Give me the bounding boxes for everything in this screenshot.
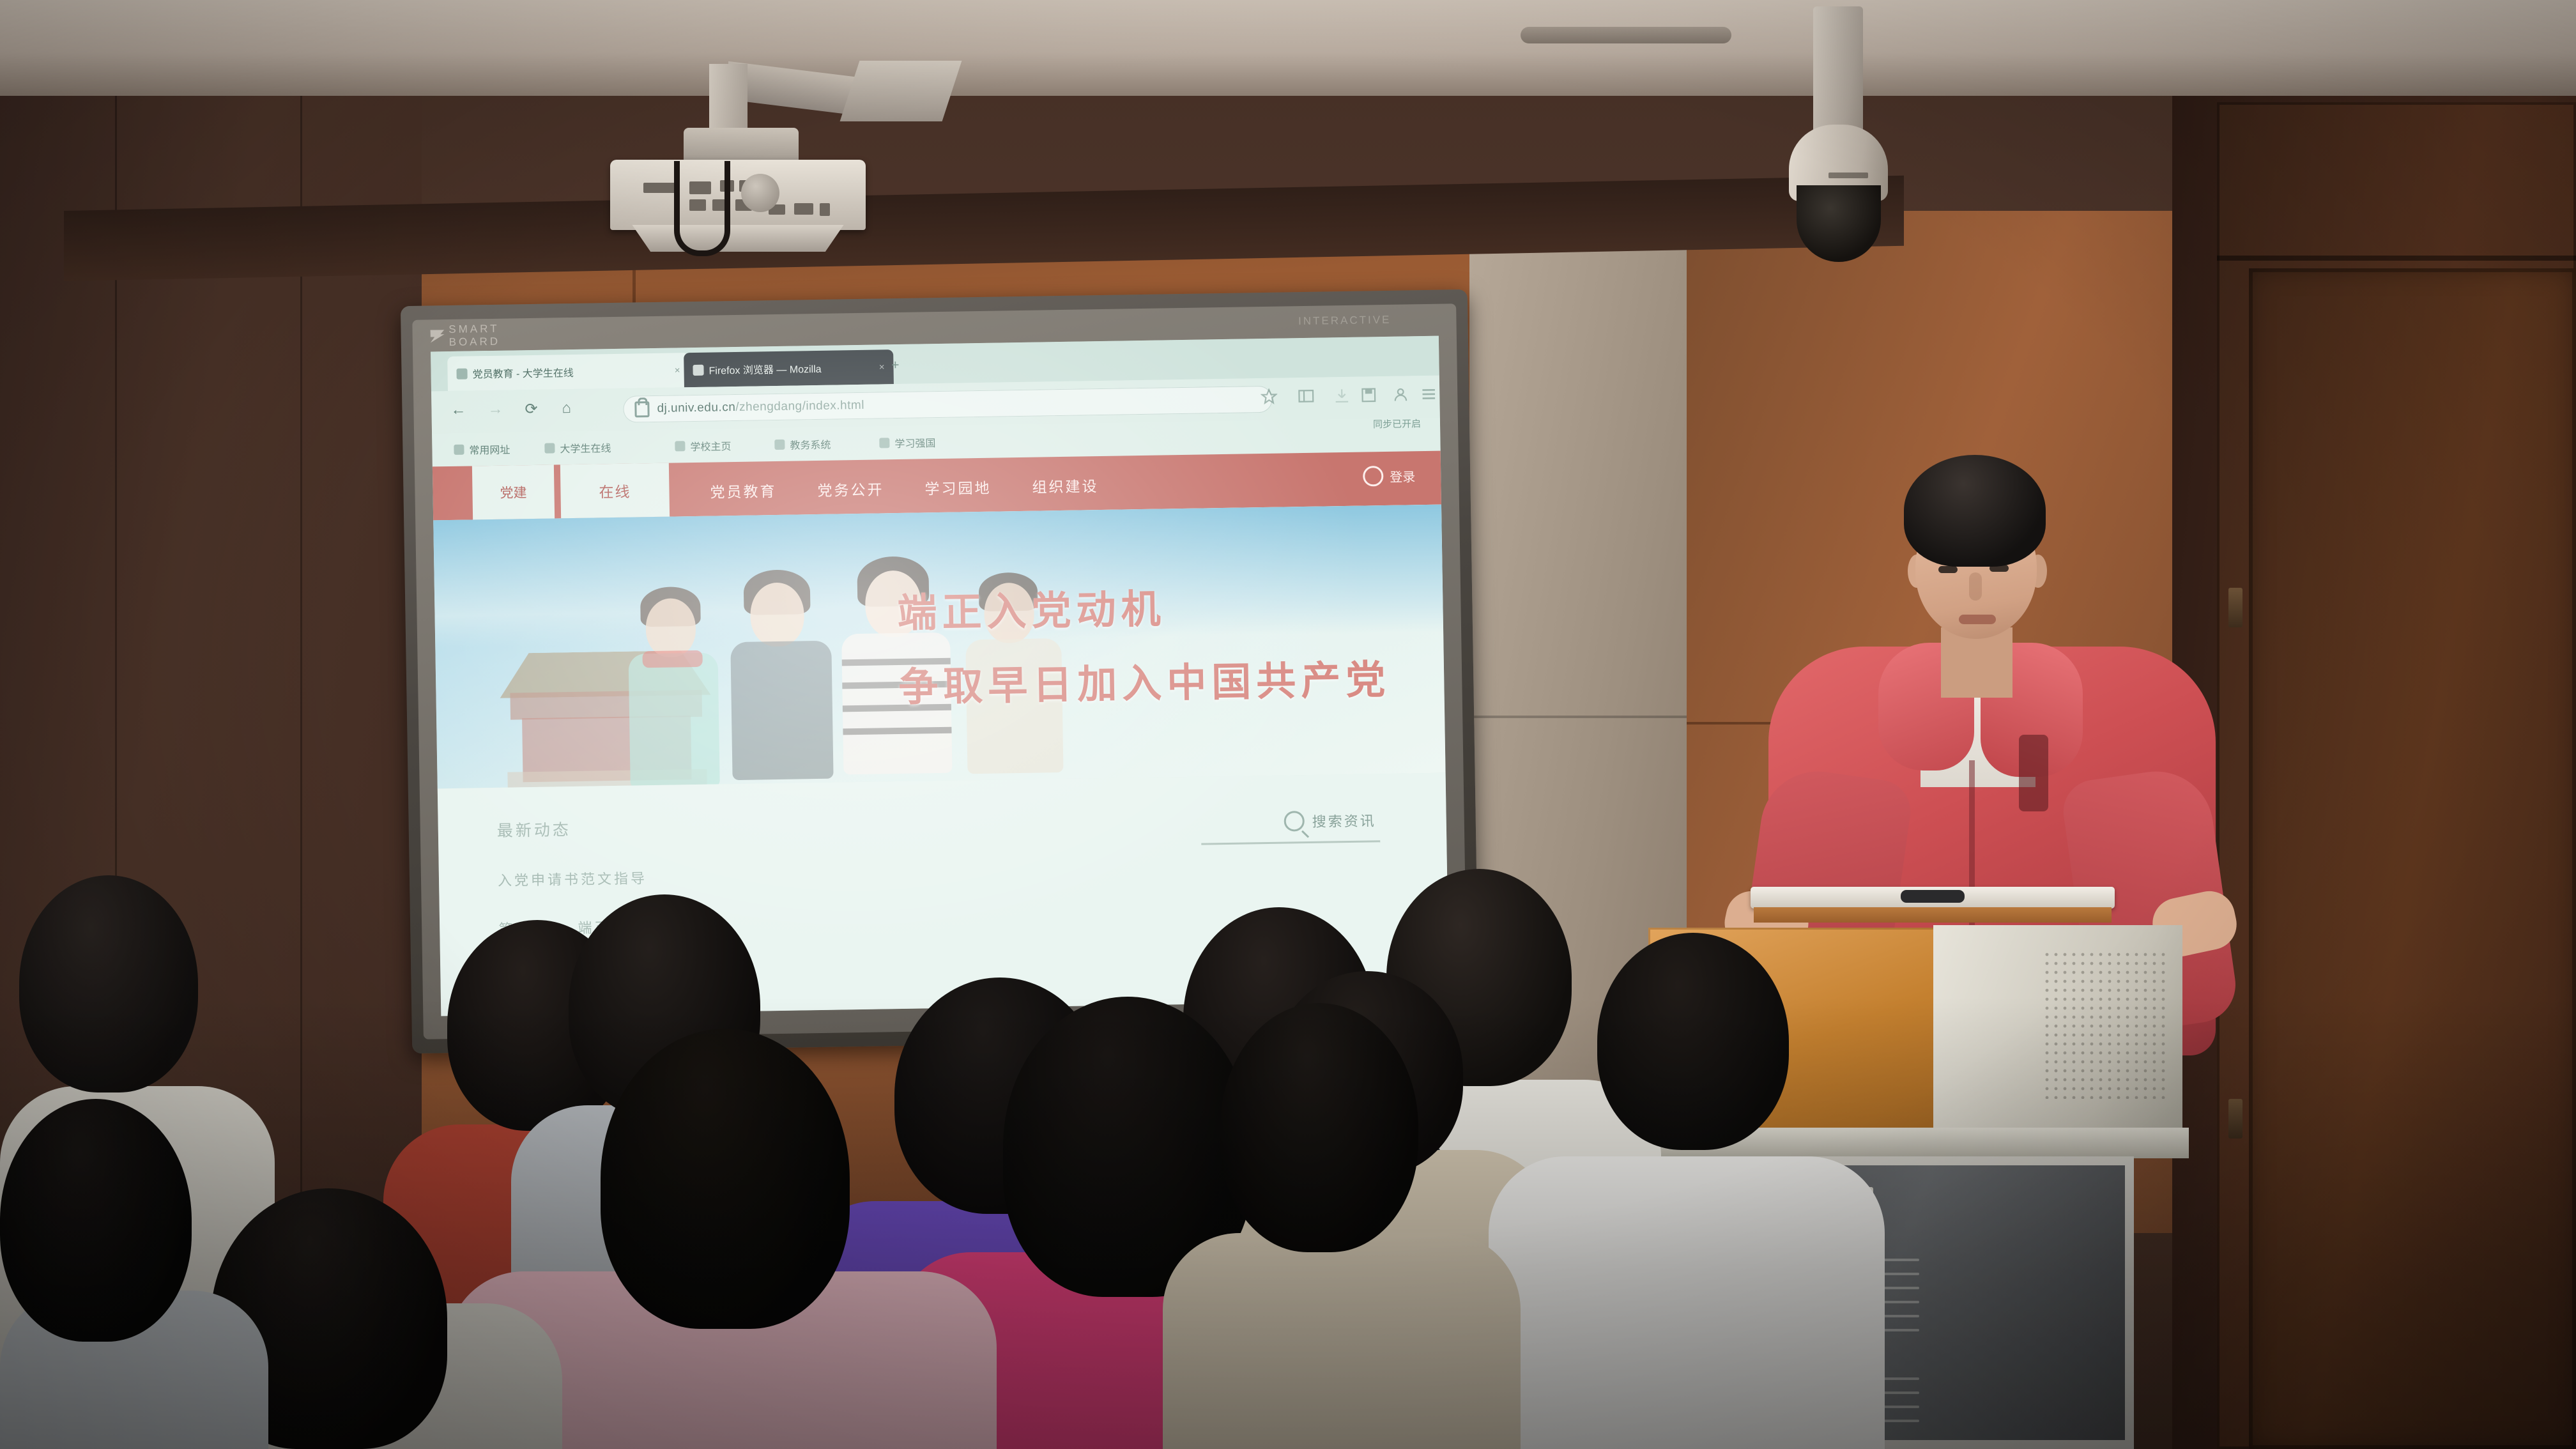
site-user-login[interactable]: 登录 <box>1363 465 1415 486</box>
back-icon[interactable]: ← <box>450 401 466 419</box>
banner-headline: 端正入党动机 争取早日加入中国共产党 <box>897 573 1391 712</box>
site-banner: 端正入党动机 争取早日加入中国共产党 <box>433 505 1445 789</box>
site-logo-secondary[interactable]: 在线 <box>560 463 670 519</box>
user-icon <box>1363 466 1383 486</box>
bookmark-favicon-icon <box>879 438 889 448</box>
address-path: /zhengdang/index.html <box>735 399 864 414</box>
lock-icon <box>634 401 649 417</box>
new-tab-button[interactable]: + <box>885 356 905 375</box>
bookmark-item[interactable]: 教务系统 <box>774 436 831 452</box>
door-transom-line <box>2217 256 2576 261</box>
home-icon[interactable]: ⌂ <box>562 399 571 417</box>
bookmark-label: 教务系统 <box>790 436 831 452</box>
bookmark-label: 学习强国 <box>894 434 935 450</box>
bookmark-favicon-icon <box>774 440 785 450</box>
projector-cable <box>674 161 730 256</box>
menu-icon[interactable] <box>1420 386 1437 402</box>
site-logo[interactable]: 党建 <box>472 464 555 519</box>
speaker-mouth <box>1959 615 1996 624</box>
content-line: 入党申请书范文指导 <box>498 867 647 890</box>
banner-line-1: 端正入党动机 <box>897 573 1390 638</box>
brand-mark-icon <box>431 330 445 342</box>
account-icon[interactable] <box>1392 386 1409 402</box>
bookmark-label: 常用网址 <box>469 441 510 457</box>
bookmark-item[interactable]: 大学生在线 <box>544 440 611 456</box>
site-search-label: 搜索资讯 <box>1312 809 1376 831</box>
browser-tab[interactable]: 党员教育 - 大学生在线 × <box>447 353 689 391</box>
reload-icon[interactable]: ⟳ <box>525 400 538 418</box>
tab-title: Firefox 浏览器 — Mozilla <box>709 360 821 378</box>
tab-favicon-icon <box>456 368 467 379</box>
bookmark-item[interactable]: 学校主页 <box>675 438 731 454</box>
lectern-edge <box>1754 907 2112 923</box>
bookmark-item[interactable]: 学习强国 <box>879 434 935 450</box>
site-menu-item-3[interactable]: 组织建设 <box>1032 474 1099 511</box>
sidebar-icon[interactable] <box>1298 388 1314 404</box>
speaker-chest-logo <box>2019 735 2048 811</box>
sync-status-label: 同步已开启 <box>1373 417 1421 431</box>
whiteboard-brand: SMART BOARD <box>430 326 539 346</box>
speaker-nose <box>1969 572 1982 601</box>
camera-mount <box>1813 6 1863 141</box>
projector-arm <box>840 61 962 121</box>
door-hinge-icon <box>2228 1099 2242 1138</box>
tab-close-icon[interactable]: × <box>675 365 680 376</box>
search-underline <box>1201 840 1380 845</box>
whiteboard-brand-right: INTERACTIVE <box>1298 314 1391 328</box>
search-icon <box>1284 811 1304 831</box>
content-line: 最新动态 <box>497 817 572 841</box>
projector-icon <box>610 160 866 230</box>
address-bar-value: dj.univ.edu.cn/zhengdang/index.html <box>657 399 864 416</box>
whiteboard-brand-label: SMART BOARD <box>448 322 539 349</box>
door-hinge-icon <box>2228 588 2242 627</box>
bookmark-favicon-icon <box>675 441 685 451</box>
bookmark-label: 学校主页 <box>690 438 731 454</box>
scene-root: SMART BOARD INTERACTIVE 党员教育 - 大学生在线 × F… <box>0 0 2576 1449</box>
tab-favicon-icon <box>693 364 703 375</box>
projector-lens <box>741 174 779 212</box>
site-user-label: 登录 <box>1390 466 1415 486</box>
bookmark-favicon-icon <box>544 443 555 453</box>
address-host: dj.univ.edu.cn <box>657 401 735 415</box>
site-search[interactable]: 搜索资讯 <box>1284 809 1376 831</box>
forward-icon[interactable]: → <box>487 401 503 418</box>
bookmark-label: 大学生在线 <box>560 440 611 456</box>
tab-title: 党员教育 - 大学生在线 <box>472 364 574 381</box>
microphone-icon[interactable] <box>1901 890 1965 903</box>
star-icon[interactable] <box>1261 388 1277 405</box>
door-panel <box>2249 268 2576 1449</box>
site-menu-item-0[interactable]: 党员教育 <box>710 479 777 516</box>
wall-seam <box>1469 716 1687 718</box>
browser-tab[interactable]: Firefox 浏览器 — Mozilla × <box>684 349 894 387</box>
projector-base <box>623 225 853 252</box>
bookmark-favicon-icon <box>454 445 464 455</box>
save-icon[interactable] <box>1360 387 1377 403</box>
ceiling-vent <box>1521 27 1731 43</box>
site-menu-item-1[interactable]: 党务公开 <box>817 477 884 514</box>
ceiling <box>0 0 2576 96</box>
site-menu-item-2[interactable]: 学习园地 <box>924 476 992 513</box>
download-icon[interactable] <box>1333 387 1350 404</box>
speaker-hair <box>1904 455 2046 567</box>
lectern-speaker-grille <box>2044 952 2166 1099</box>
bookmark-item[interactable]: 常用网址 <box>454 441 510 457</box>
tab-close-icon[interactable]: × <box>879 362 885 372</box>
banner-line-2: 争取早日加入中国共产党 <box>898 647 1391 712</box>
camera-brand-label <box>1828 172 1868 178</box>
